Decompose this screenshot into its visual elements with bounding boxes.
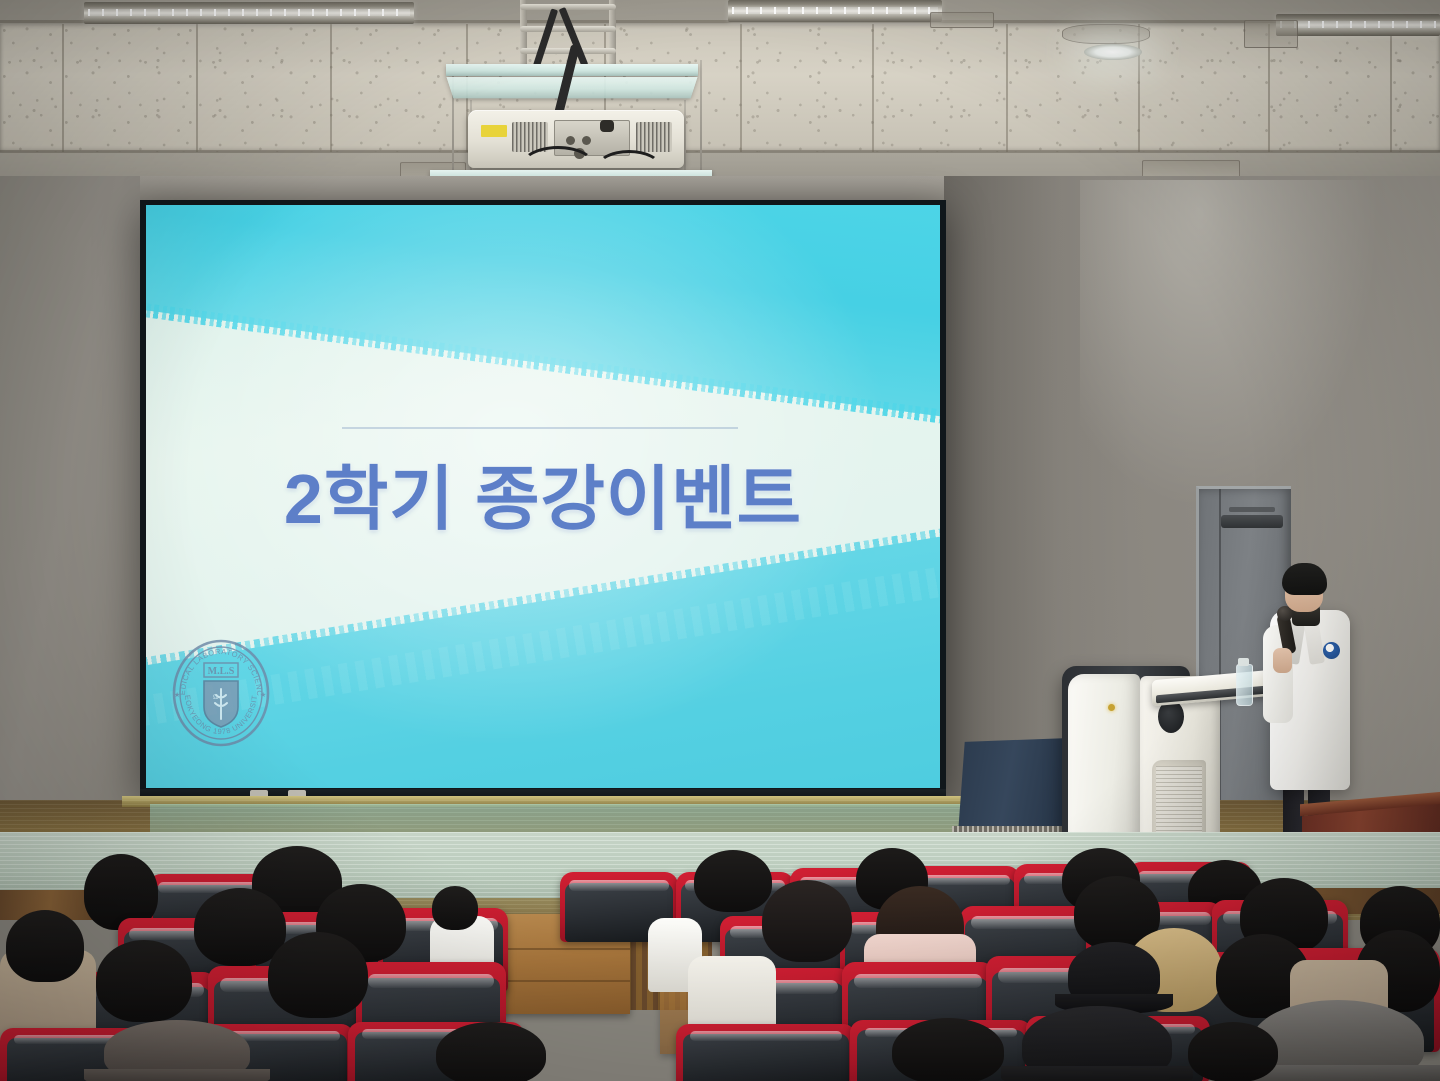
audience-head xyxy=(892,1018,1004,1081)
slide-divider-rule xyxy=(342,427,738,429)
wall-above-screen xyxy=(140,176,950,202)
audience-cap-gray xyxy=(104,1020,250,1081)
ceiling xyxy=(0,0,1440,196)
bottle-cap xyxy=(1238,658,1249,666)
svg-text:Ω: Ω xyxy=(213,693,218,701)
audience-head xyxy=(436,1022,546,1081)
ceiling-downlight xyxy=(1084,44,1142,60)
ceiling-texture xyxy=(0,24,1440,152)
audience-cap-gray xyxy=(1252,1000,1424,1081)
audience-head xyxy=(1188,1022,1278,1081)
seat[interactable] xyxy=(676,1024,856,1081)
svg-text:★: ★ xyxy=(260,691,266,699)
audience-head xyxy=(762,880,852,962)
lecture-hall-photo: 2학기 종강이벤트 MEDICAL LABORATORY SCIENCE SEO… xyxy=(0,0,1440,1081)
ceiling-strip-light xyxy=(1276,14,1440,36)
ceiling-vent xyxy=(1244,20,1298,48)
ceiling-tile-band xyxy=(0,24,1440,152)
audience-head xyxy=(96,940,192,1022)
mount-plate-skirt xyxy=(446,77,697,98)
wall-highlight xyxy=(1080,180,1380,510)
audience-area: M.L.S xyxy=(0,832,1440,1081)
audience-cap-black xyxy=(1068,942,1160,1008)
ceiling-light-housing xyxy=(1062,24,1150,44)
covered-table xyxy=(958,738,1070,834)
svg-text:★: ★ xyxy=(174,691,180,699)
door-closer xyxy=(1221,515,1283,528)
presenter-hand xyxy=(1273,648,1292,673)
audience-head xyxy=(6,910,84,982)
ceiling-strip-light xyxy=(84,2,414,24)
projection-screen[interactable]: 2학기 종강이벤트 MEDICAL LABORATORY SCIENCE SEO… xyxy=(146,205,940,788)
audience-cap-black xyxy=(1022,1006,1172,1081)
lab-coat-emblem-patch xyxy=(1322,641,1341,660)
projector-warning-sticker xyxy=(481,125,507,137)
ceiling-vent xyxy=(930,12,994,28)
audience-head xyxy=(432,886,478,930)
audience-head xyxy=(694,850,772,912)
svg-text:M.L.S: M.L.S xyxy=(208,666,235,677)
wall-left xyxy=(0,176,152,831)
mls-university-logo: MEDICAL LABORATORY SCIENCE SEOKYEONG 197… xyxy=(168,637,274,749)
audience-head xyxy=(268,932,368,1018)
ceiling-strip-light xyxy=(728,0,942,22)
water-bottle[interactable] xyxy=(1236,664,1253,706)
audience-head xyxy=(194,888,286,966)
presenter-hair xyxy=(1282,563,1327,595)
lectern-power-led xyxy=(1108,704,1115,711)
slide-title: 2학기 종강이벤트 xyxy=(146,443,940,544)
door-closer-arm xyxy=(1229,507,1275,512)
